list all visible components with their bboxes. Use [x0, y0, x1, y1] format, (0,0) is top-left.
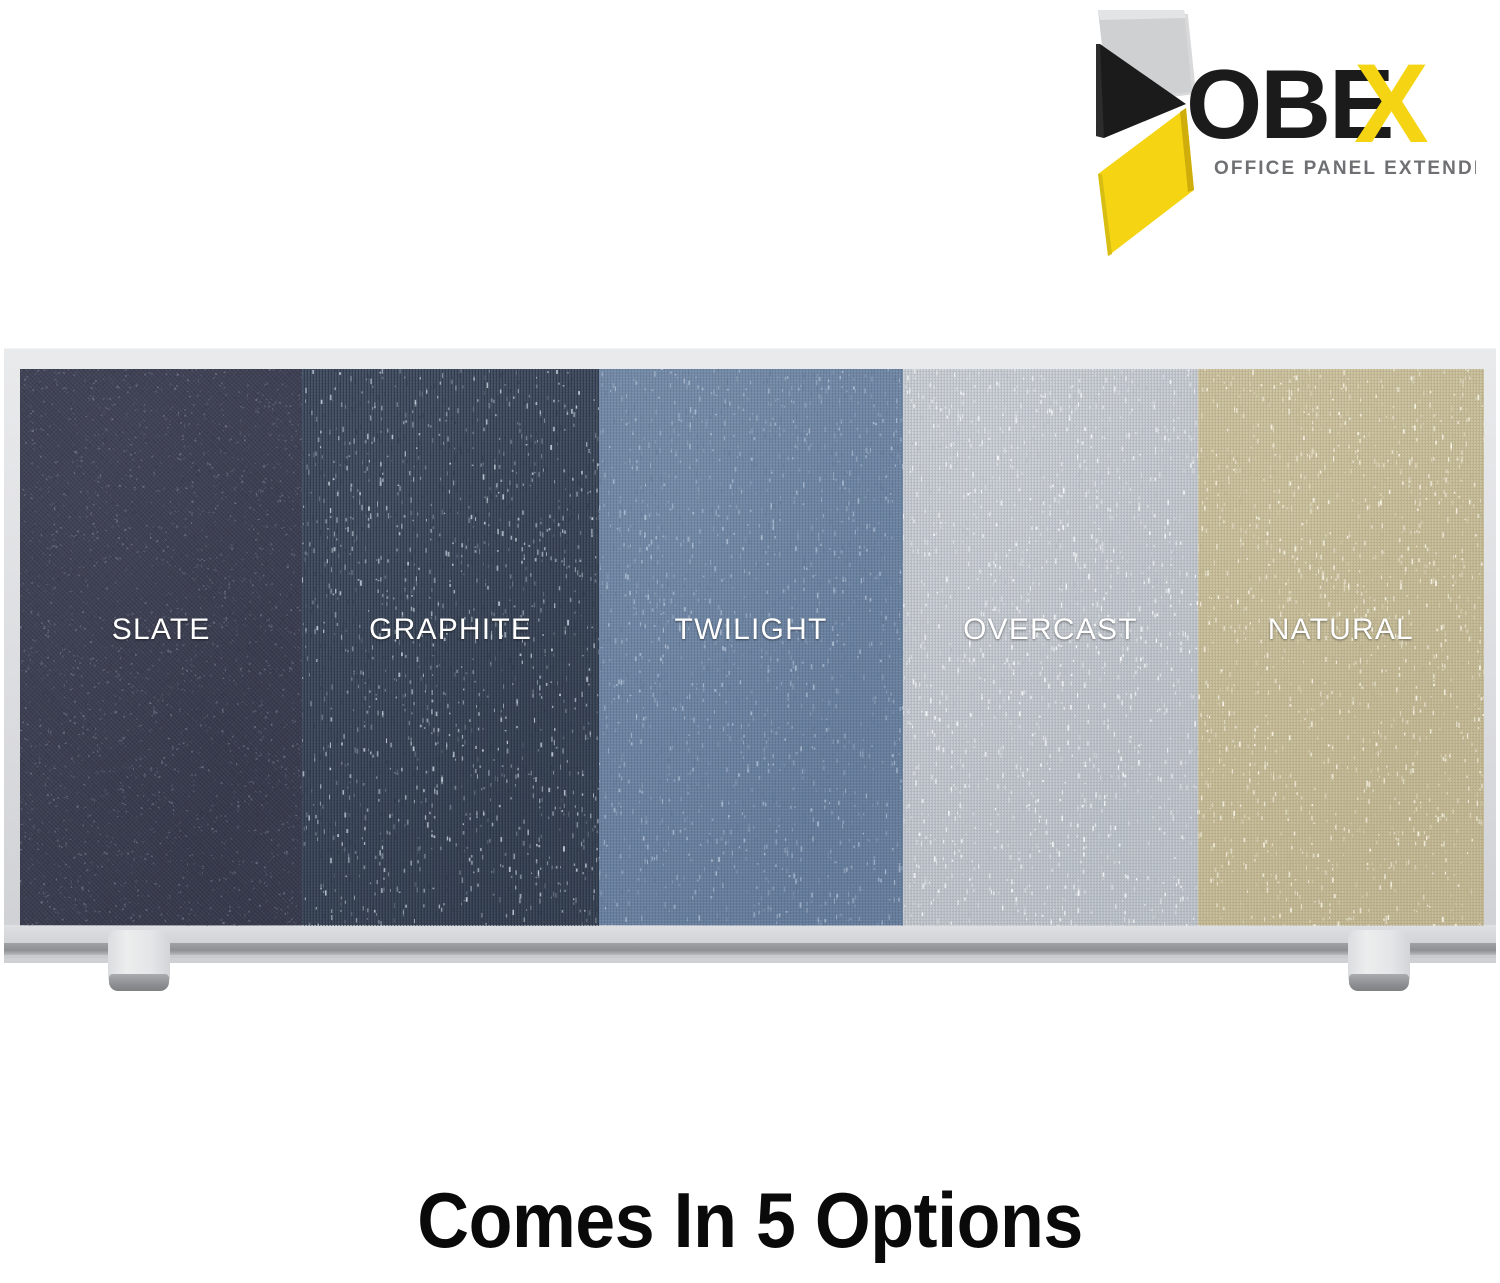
obex-wordmark: OBE X OFFICE PANEL EXTENDERS	[1186, 56, 1476, 206]
fabric-swatch-overcast[interactable]: OVERCAST	[903, 369, 1197, 926]
fabric-swatch-strip: SLATEGRAPHITETWILIGHTOVERCASTNATURAL	[20, 369, 1484, 926]
fabric-swatch-label-natural: NATURAL	[1198, 613, 1484, 647]
panel-frame: SLATEGRAPHITETWILIGHTOVERCASTNATURAL	[4, 348, 1496, 963]
wordmark-x: X	[1354, 56, 1429, 166]
fabric-swatch-graphite[interactable]: GRAPHITE	[302, 369, 598, 926]
wordmark-tagline: OFFICE PANEL EXTENDERS	[1214, 158, 1476, 179]
panel-foot-right	[1348, 930, 1410, 992]
obex-chevron-logo-mark	[1068, 8, 1198, 258]
swatch-fleck-texture	[599, 369, 903, 926]
panel-bottom-rail-dark	[4, 943, 1496, 955]
fabric-swatch-natural[interactable]: NATURAL	[1198, 369, 1484, 926]
obex-logo: OBE X OFFICE PANEL EXTENDERS	[1068, 8, 1468, 258]
fabric-panel-assembly: SLATEGRAPHITETWILIGHTOVERCASTNATURAL	[0, 330, 1500, 1030]
swatch-fleck-texture	[903, 369, 1197, 926]
fabric-swatch-label-overcast: OVERCAST	[903, 613, 1197, 647]
panel-bottom-rail-shadow	[4, 955, 1496, 958]
fabric-swatch-label-twilight: TWILIGHT	[599, 613, 903, 647]
fabric-swatch-twilight[interactable]: TWILIGHT	[599, 369, 903, 926]
panel-foot-left	[108, 930, 170, 992]
swatch-fleck-texture	[20, 369, 302, 926]
panel-foot-right-base	[1349, 974, 1409, 991]
panel-foot-left-base	[109, 974, 169, 991]
page-caption: Comes In 5 Options	[60, 1175, 1440, 1266]
swatch-fleck-texture	[1198, 369, 1484, 926]
fabric-swatch-label-slate: SLATE	[20, 613, 302, 647]
panel-bottom-rail-light	[4, 925, 1496, 943]
swatch-fleck-texture	[302, 369, 598, 926]
fabric-swatch-slate[interactable]: SLATE	[20, 369, 302, 926]
fabric-swatch-label-graphite: GRAPHITE	[302, 613, 598, 647]
